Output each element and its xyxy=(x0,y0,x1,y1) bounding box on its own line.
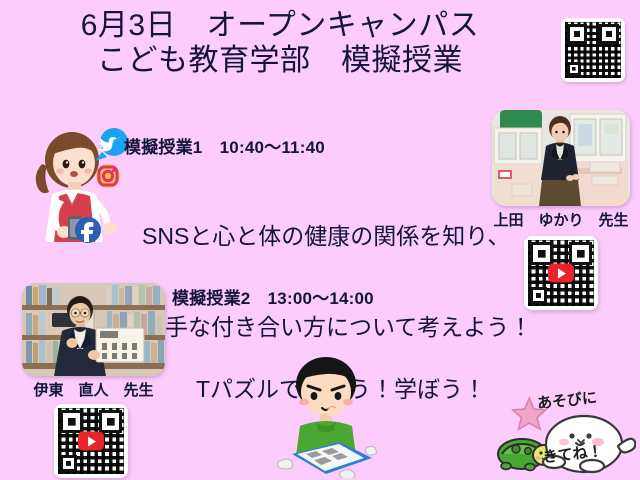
instructor-1-photo xyxy=(492,110,630,206)
session-1-heading: 模擬授業1 10:40〜11:40 xyxy=(124,133,325,158)
title-line-2: こども教育学部 模擬授業 xyxy=(0,43,560,78)
page-title: 6月3日 オープンキャンパス こども教育学部 模擬授業 xyxy=(0,8,560,79)
youtube-qr-icon-ueda[interactable] xyxy=(524,236,598,310)
mascot-message-line-1: あそびに xyxy=(536,390,584,413)
session-1-body-line-1: SNSと心と体の健康の関係を知り、 xyxy=(142,221,532,251)
instructor-1-name: 上田 ゆかり 先生 xyxy=(492,209,630,230)
instructor-2-name: 伊東 直人 先生 xyxy=(22,379,165,400)
qr-code-icon[interactable] xyxy=(561,18,625,82)
instructor-2-photo xyxy=(22,283,165,376)
session-2-heading: 模擬授業2 13:00〜14:00 xyxy=(172,284,374,309)
instagram-icon xyxy=(96,164,120,188)
youtube-qr-icon-ito[interactable] xyxy=(54,404,128,478)
title-line-1: 6月3日 オープンキャンパス xyxy=(0,8,560,43)
youtube-play-icon xyxy=(548,264,574,283)
facebook-icon xyxy=(75,217,101,243)
mascot-message-line-2: きてね！ xyxy=(542,445,590,468)
qr-eye-bottom-left xyxy=(567,62,582,77)
qr-eye-bottom-left xyxy=(60,455,77,472)
sns-girl-illustration xyxy=(26,118,138,246)
qr-pattern xyxy=(565,22,621,78)
puzzle-boy-illustration xyxy=(270,350,382,478)
qr-eye-bottom-left xyxy=(530,287,547,304)
youtube-play-icon xyxy=(78,432,104,451)
open-campus-poster: 6月3日 オープンキャンパス こども教育学部 模擬授業 xyxy=(0,0,640,480)
